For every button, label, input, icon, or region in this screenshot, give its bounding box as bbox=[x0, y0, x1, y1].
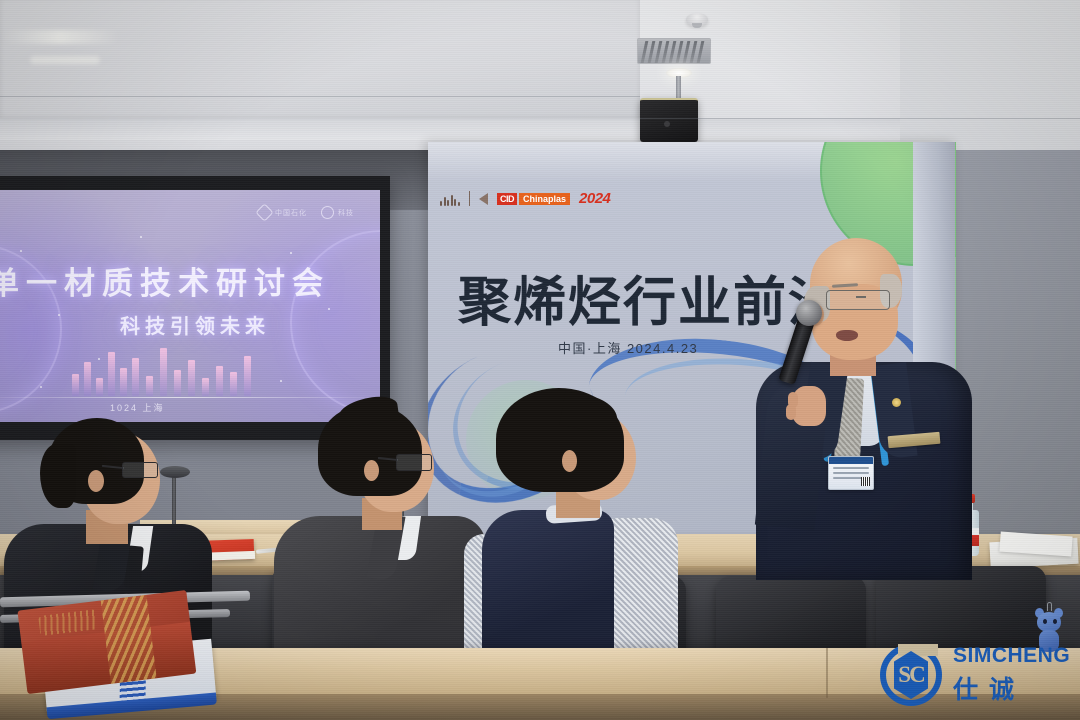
badge-header-bar bbox=[829, 457, 873, 464]
attendee-3 bbox=[470, 388, 690, 648]
simcheng-watermark: SC SIMCHENG 仕诚 bbox=[880, 644, 1070, 706]
ceiling-light-strip bbox=[0, 30, 120, 44]
screen-title: 单一材质技术研讨会 bbox=[0, 258, 344, 303]
play-mark-icon bbox=[479, 193, 488, 205]
banner-logo-year: 2024 bbox=[579, 190, 610, 207]
speaker-hand bbox=[792, 386, 826, 426]
watermark-brand-en: SIMCHENG bbox=[953, 644, 1070, 668]
brand-red-mark: CID bbox=[497, 193, 517, 205]
table-seam bbox=[826, 648, 828, 698]
ceiling-right-panel bbox=[900, 0, 1080, 160]
mascot-eye bbox=[1053, 619, 1057, 624]
speaker-finger bbox=[786, 404, 796, 420]
attendee-1-ear bbox=[88, 470, 104, 492]
ceiling-seam bbox=[0, 96, 640, 97]
attendee-3-vest bbox=[482, 510, 614, 650]
speaker-glasses-icon bbox=[826, 290, 890, 310]
signature-logo-icon bbox=[440, 192, 460, 206]
partner-logo-1: 中国石化 bbox=[258, 206, 307, 219]
attendee-1-hair-back bbox=[40, 444, 76, 508]
horizon-line bbox=[0, 397, 380, 398]
speaker-glasses-bridge bbox=[856, 296, 866, 298]
badge-qr-code-icon bbox=[861, 477, 870, 486]
handheld-microphone-head-icon bbox=[796, 300, 822, 326]
air-vent-icon bbox=[637, 38, 711, 64]
ceiling-seam bbox=[640, 118, 1080, 119]
ceiling-projector-icon bbox=[640, 98, 698, 142]
banner-subtitle: 中国·上海 2024.4.23 bbox=[558, 338, 698, 357]
watermark-text-block: SIMCHENG 仕诚 bbox=[953, 644, 1070, 706]
smoke-detector-icon bbox=[686, 13, 708, 26]
ceiling-light-strip-secondary bbox=[30, 56, 100, 64]
mascot-head bbox=[1037, 612, 1061, 632]
conference-photo-scene: 中国石化 科技 单一材质技术研讨会 科技引领未来 1024 上海 bbox=[0, 0, 1080, 720]
speaker-gold-lapel-pin-icon bbox=[892, 398, 901, 407]
simcheng-logo-icon: SC bbox=[880, 644, 942, 706]
projection-screen: 中国石化 科技 单一材质技术研讨会 科技引领未来 1024 上海 bbox=[0, 176, 390, 440]
partner-mark-icon bbox=[255, 203, 273, 221]
attendee-2-ear bbox=[364, 460, 379, 481]
banner-event-logo: CID Chinaplas 2024 bbox=[440, 190, 610, 207]
logo-divider bbox=[469, 191, 471, 206]
speaker-mouth bbox=[836, 330, 858, 341]
logo-monogram: SC bbox=[894, 651, 928, 699]
watermark-brand-cn: 仕诚 bbox=[953, 670, 1070, 706]
projection-screen-surface: 中国石化 科技 单一材质技术研讨会 科技引领未来 1024 上海 bbox=[0, 190, 380, 422]
partner-logo-2-label: 科技 bbox=[338, 208, 354, 218]
chinaplas-logo: CID Chinaplas bbox=[497, 193, 570, 205]
attendee-2-glasses-icon bbox=[396, 454, 432, 471]
presenting-speaker bbox=[752, 238, 982, 578]
mascot-hook-icon bbox=[1047, 602, 1052, 611]
mascot-eye bbox=[1043, 619, 1047, 624]
attendee-1-glasses-icon bbox=[122, 462, 158, 478]
projector-mount-stem bbox=[676, 76, 681, 100]
city-skyline-graphic bbox=[68, 340, 258, 396]
speaker-conference-badge bbox=[828, 456, 874, 490]
badge-line bbox=[833, 467, 869, 469]
brand-name-mark: Chinaplas bbox=[519, 193, 570, 205]
badge-line bbox=[833, 472, 869, 474]
partner-logo-2: 科技 bbox=[321, 206, 354, 219]
screen-subtitle: 科技引领未来 bbox=[10, 310, 380, 339]
partner-logo-1-label: 中国石化 bbox=[275, 208, 307, 218]
attendee-3-ear bbox=[562, 450, 577, 472]
partner-mark-icon bbox=[321, 206, 334, 219]
screen-partner-logos: 中国石化 科技 bbox=[258, 206, 354, 219]
screen-footer-text: 1024 上海 bbox=[110, 401, 165, 414]
